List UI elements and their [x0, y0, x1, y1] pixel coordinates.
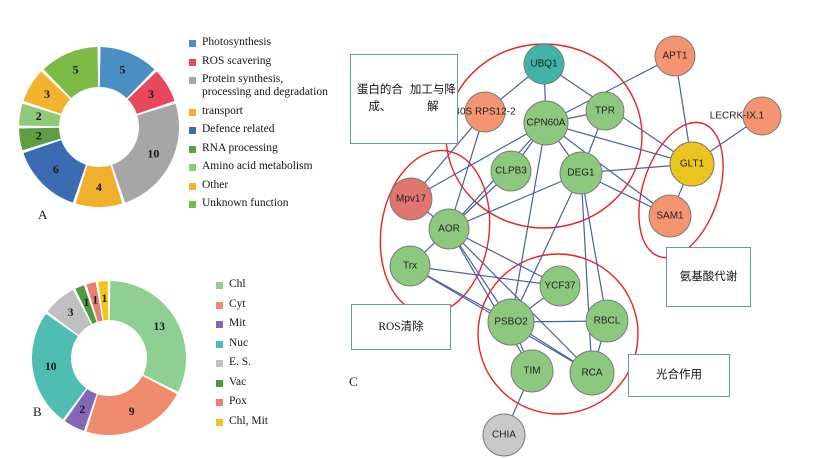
node-label: TIM — [523, 366, 540, 377]
legend-b-item-label: Chl, Mit — [229, 415, 268, 428]
pie-slice-value-5: 2 — [36, 128, 42, 142]
legend-a-item-swatch-icon — [189, 77, 196, 84]
legend-b-item-swatch-icon — [216, 360, 223, 367]
donut-b-svg: 1392103111 — [29, 278, 189, 438]
pie-slice-value-7: 3 — [44, 87, 50, 101]
legend-a-item-swatch-icon — [189, 201, 196, 208]
legend-b-item-label: Vac — [229, 376, 246, 389]
network-node-clpb3[interactable]: CLPB3 — [491, 151, 531, 191]
node-label: CHIA — [492, 430, 516, 441]
donut-a-svg: 5310462235 — [16, 44, 182, 210]
legend-a-item-row: ROS scavering — [189, 55, 328, 68]
node-label: AOR — [438, 224, 460, 235]
network-node-mpv17[interactable]: Mpv17 — [390, 178, 432, 220]
legend-a-item-swatch-icon — [189, 59, 196, 66]
legend-b-item-swatch-icon — [216, 419, 223, 426]
donut-chart-b: 1392103111 — [29, 278, 189, 438]
pie-slice-value-1: 9 — [129, 406, 135, 418]
pie-slice-value-8: 5 — [73, 62, 79, 76]
protein-box-line: 加工与降解 — [409, 82, 457, 116]
node-label: SAM1 — [656, 211, 684, 222]
legend-a-item-row: Defence related — [189, 123, 328, 136]
node-label: LECRK-IX.1 — [710, 111, 765, 122]
legend-a-item-swatch-icon — [189, 164, 196, 171]
photosynthesis-box-line: 光合作用 — [656, 367, 702, 384]
network-diagram-c: UBQ1APT140S RPS12-2CPN60ATPRLECRK-IX.1CL… — [336, 16, 815, 458]
network-node-trx[interactable]: Trx — [390, 246, 430, 286]
legend-b-item-label: Pox — [229, 395, 247, 408]
ros-box-line: ROS清除 — [378, 319, 423, 336]
amino-acid-box: 氨基酸代谢 — [666, 247, 751, 307]
network-node-ubq1[interactable]: UBQ1 — [524, 44, 564, 84]
legend-a-item-row: Photosynthesis — [189, 36, 328, 49]
legend-b-item-row: Pox — [216, 395, 268, 408]
network-node-ycf37[interactable]: YCF37 — [540, 266, 580, 306]
legend-b-item-row: Chl, Mit — [216, 415, 268, 428]
node-label: GLT1 — [680, 159, 705, 170]
amino-acid-box-line: 氨基酸代谢 — [680, 269, 738, 286]
pie-slice-value-4: 3 — [68, 307, 74, 319]
pie-slice-value-2: 2 — [79, 404, 85, 416]
protein-box-line: 蛋白的合成、 — [351, 82, 409, 116]
legend-a-item-label: Other — [202, 179, 228, 192]
legend-b-item-label: Nuc — [229, 337, 248, 350]
pie-slice-0 — [110, 281, 186, 392]
node-label: APT1 — [662, 51, 687, 62]
legend-panel-b: ChlCytMitNucE. S.VacPoxChl, Mit — [216, 278, 268, 434]
node-label: UBQ1 — [530, 59, 558, 70]
pie-slice-value-5: 1 — [84, 297, 90, 309]
legend-a-item-row: Unknown function — [189, 197, 328, 210]
node-label: Mpv17 — [396, 194, 426, 205]
photosynthesis-box: 光合作用 — [628, 354, 730, 397]
node-label: PSBO2 — [494, 317, 528, 328]
panel-c-letter: C — [349, 374, 358, 390]
network-node-apt1[interactable]: APT1 — [655, 36, 695, 76]
donut-chart-a: 5310462235 — [16, 44, 182, 210]
network-node-glt1[interactable]: GLT1 — [670, 142, 714, 186]
legend-b-item-label: E. S. — [229, 356, 251, 369]
panel-b-letter: B — [33, 404, 42, 420]
pie-slice-value-3: 10 — [45, 361, 57, 373]
legend-panel-a: PhotosynthesisROS scaveringProtein synth… — [189, 36, 328, 216]
legend-a-item-label: transport — [202, 105, 243, 118]
pie-slice-2 — [112, 104, 179, 203]
pie-slice-value-7: 1 — [101, 293, 107, 305]
legend-b-item-row: Mit — [216, 317, 268, 330]
legend-a-item-label: ROS scavering — [202, 55, 271, 68]
network-node-rps12[interactable]: 40S RPS12-2 — [454, 92, 516, 132]
protein-box: 蛋白的合成、加工与降解 — [350, 54, 458, 144]
network-node-rbcl[interactable]: RBCL — [586, 300, 628, 342]
legend-a-item-label: RNA processing — [202, 142, 278, 155]
node-label: CPN60A — [527, 118, 566, 129]
pie-slice-value-2: 10 — [147, 146, 159, 160]
legend-a-item-label: Unknown function — [202, 197, 289, 210]
legend-b-item-label: Chl — [229, 278, 246, 291]
legend-b-item-swatch-icon — [216, 321, 223, 328]
legend-b-item-swatch-icon — [216, 282, 223, 289]
legend-b-item-label: Cyt — [229, 298, 246, 311]
legend-a-item-swatch-icon — [189, 40, 196, 47]
panel-a-letter: A — [38, 207, 47, 223]
network-node-chia[interactable]: CHIA — [483, 414, 525, 456]
network-node-sam1[interactable]: SAM1 — [649, 195, 691, 237]
legend-a-item-row: Other — [189, 179, 328, 192]
pie-slice-value-4: 6 — [53, 162, 59, 176]
pie-slice-value-0: 13 — [154, 321, 166, 333]
legend-a-item-label: Amino acid metabolism — [202, 160, 313, 173]
network-node-rca[interactable]: RCA — [570, 351, 614, 395]
network-node-deg1[interactable]: DEG1 — [560, 152, 602, 194]
legend-b-item-row: E. S. — [216, 356, 268, 369]
network-node-lecrk[interactable]: LECRK-IX.1 — [710, 97, 781, 135]
node-label: 40S RPS12-2 — [454, 107, 516, 118]
pie-slice-value-3: 4 — [96, 180, 102, 194]
legend-b-item-row: Cyt — [216, 298, 268, 311]
legend-a-item-row: RNA processing — [189, 142, 328, 155]
legend-b-item-label: Mit — [229, 317, 246, 330]
network-node-aor[interactable]: AOR — [429, 209, 469, 249]
network-node-tim[interactable]: TIM — [511, 350, 553, 392]
network-node-tpr[interactable]: TPR — [586, 92, 624, 130]
node-label: DEG1 — [567, 168, 595, 179]
network-node-cpn60a[interactable]: CPN60A — [524, 101, 568, 145]
legend-b-item-swatch-icon — [216, 341, 223, 348]
node-label: Trx — [403, 261, 417, 272]
legend-a-item-label: Protein synthesis, processing and degrad… — [202, 73, 328, 99]
pie-slice-value-6: 1 — [92, 294, 98, 306]
legend-a-item-swatch-icon — [189, 109, 196, 116]
legend-a-item-label: Defence related — [202, 123, 274, 136]
node-label: CLPB3 — [495, 166, 527, 177]
legend-a-item-row: Protein synthesis, processing and degrad… — [189, 73, 328, 99]
node-label: YCF37 — [544, 281, 576, 292]
pie-slice-value-6: 2 — [36, 109, 42, 123]
network-node-psbo2[interactable]: PSBO2 — [488, 299, 534, 345]
legend-b-item-swatch-icon — [216, 380, 223, 387]
legend-a-item-label: Photosynthesis — [202, 36, 271, 49]
node-label: RCA — [581, 368, 602, 379]
legend-b-item-swatch-icon — [216, 399, 223, 406]
node-label: TPR — [595, 106, 615, 117]
legend-a-item-swatch-icon — [189, 146, 196, 153]
legend-b-item-row: Vac — [216, 376, 268, 389]
legend-a-item-swatch-icon — [189, 127, 196, 134]
legend-a-item-row: transport — [189, 105, 328, 118]
pie-slice-value-1: 3 — [148, 87, 154, 101]
pie-slice-value-0: 5 — [119, 62, 125, 76]
legend-a-item-row: Amino acid metabolism — [189, 160, 328, 173]
legend-b-item-row: Chl — [216, 278, 268, 291]
legend-a-item-swatch-icon — [189, 183, 196, 190]
node-label: RBCL — [594, 316, 621, 327]
legend-b-item-swatch-icon — [216, 302, 223, 309]
ros-box: ROS清除 — [351, 304, 451, 350]
legend-b-item-row: Nuc — [216, 337, 268, 350]
